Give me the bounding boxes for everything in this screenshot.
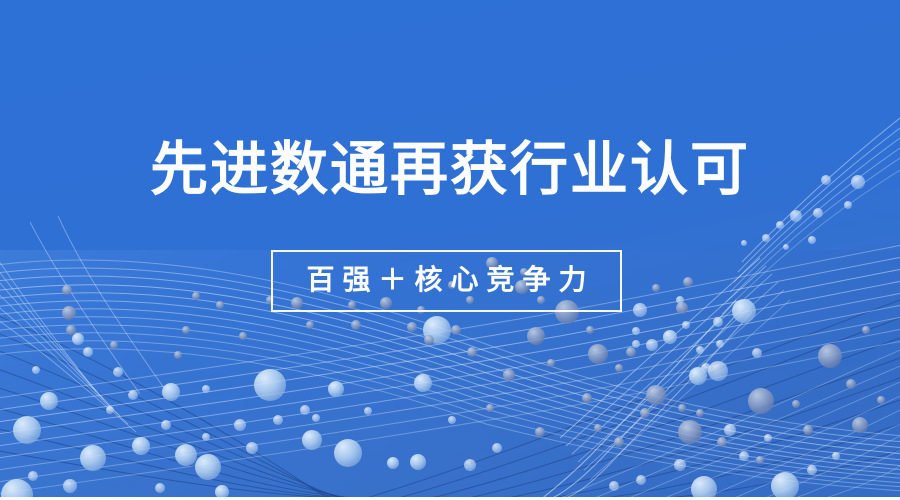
subtitle-badge: 百强＋核心竞争力 [271,250,622,312]
promo-banner: 先进数通再获行业认可 百强＋核心竞争力 [0,0,900,500]
page-title: 先进数通再获行业认可 [0,138,900,202]
banner-content: 先进数通再获行业认可 百强＋核心竞争力 [0,0,900,500]
subtitle-text: 百强＋核心竞争力 [298,266,594,296]
